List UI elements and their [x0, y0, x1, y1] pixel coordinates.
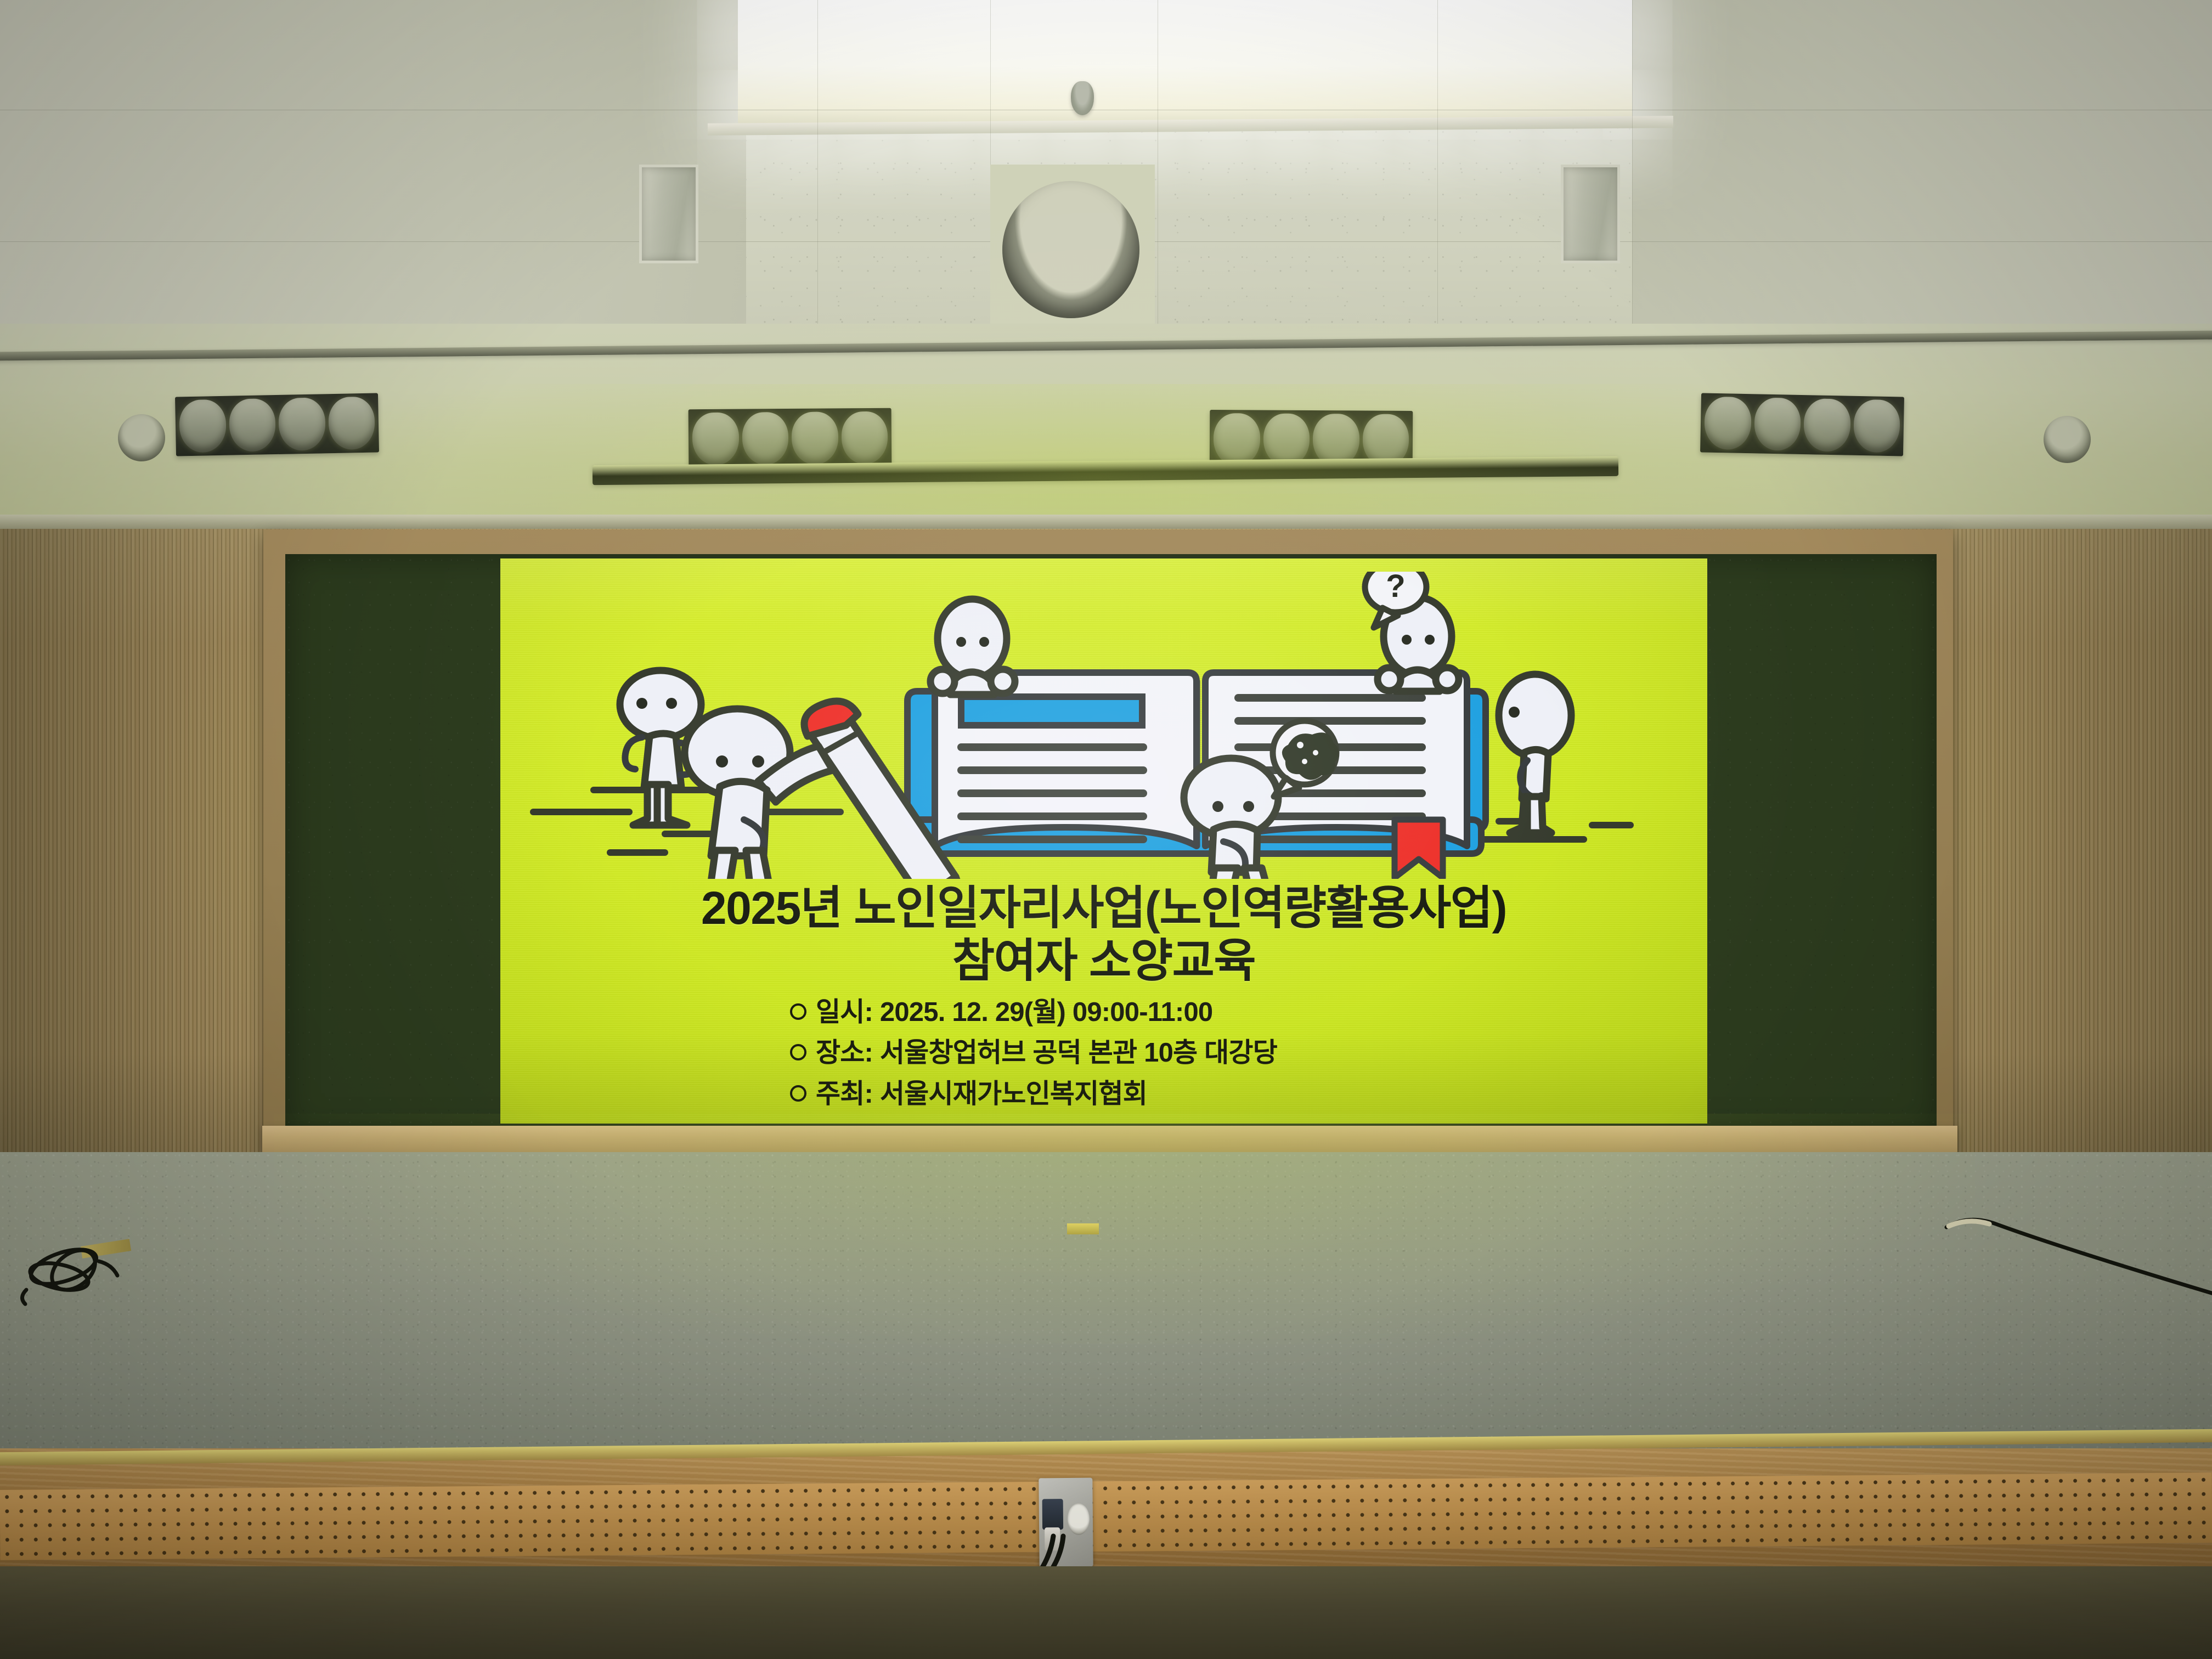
slide-bullet-text: 장소: 서울창업허브 공덕 본관 10층 대강당	[816, 1032, 1277, 1073]
spotlight-can	[841, 411, 888, 465]
projected-slide: .ol { stroke:#33382b; stroke-width:13; s…	[500, 558, 1707, 1124]
ground-dashes-left	[533, 790, 840, 853]
stage-floor-texture	[0, 1152, 2212, 1459]
wall-top-trim	[0, 515, 2212, 529]
spotlight-can	[792, 411, 838, 465]
slide-bullet-item-host: 주최: 서울시재가노인복지협회	[790, 1074, 1277, 1114]
sprinkler-head-icon	[1071, 81, 1094, 115]
spotlight-can	[742, 412, 788, 465]
slide-title: 2025년 노인일자리사업(노인역량활용사업) 참여자 소양교육	[500, 882, 1707, 988]
spotlight-can	[1214, 413, 1260, 466]
air-diffuser-right	[1561, 165, 1620, 263]
spotlight-bank-2	[689, 408, 892, 469]
bullet-ring-icon	[790, 1085, 806, 1102]
spotlight-can	[278, 397, 325, 451]
illustration-svg: .ol { stroke:#33382b; stroke-width:13; s…	[500, 572, 1707, 879]
slide-illustration: .ol { stroke:#33382b; stroke-width:13; s…	[500, 572, 1707, 879]
stage-floor	[0, 1152, 2212, 1459]
floor-cable-right-svg	[1942, 1199, 2212, 1336]
slide-bullet-text: 일시: 2025. 12. 29(월) 09:00-11:00	[816, 992, 1212, 1032]
floor-cable-right	[1942, 1199, 2212, 1336]
round-downlight-icon	[2044, 416, 2091, 463]
lecture-hall-scene: .ol { stroke:#33382b; stroke-width:13; s…	[0, 0, 2212, 1659]
stage-floor-marker	[1067, 1223, 1099, 1234]
air-diffuser-left	[639, 165, 698, 263]
slide-bullet-item-venue: 장소: 서울창업허브 공덕 본관 10층 대강당	[790, 1032, 1277, 1073]
spotlight-can	[229, 398, 276, 452]
recessed-downlight-icon	[990, 165, 1155, 329]
ceiling-soffit-left	[0, 0, 746, 340]
ceiling-soffit-right	[1632, 0, 2212, 340]
slide-title-line-2: 참여자 소양교육	[522, 935, 1685, 988]
slide-bullet-list: 일시: 2025. 12. 29(월) 09:00-11:00 장소: 서울창업…	[790, 992, 1277, 1114]
screen-bottom-rail	[262, 1126, 1957, 1154]
bullet-ring-icon	[790, 1003, 806, 1020]
spotlight-can	[692, 413, 739, 466]
spotlight-can	[1853, 399, 1900, 453]
slide-bullet-text: 주최: 서울시재가노인복지협회	[816, 1074, 1147, 1114]
bullet-ring-icon	[790, 1044, 806, 1060]
spotlight-can	[179, 399, 226, 453]
ceiling	[0, 0, 2212, 540]
spotlight-can	[1754, 397, 1801, 451]
slide-bullet-item-date: 일시: 2025. 12. 29(월) 09:00-11:00	[790, 992, 1277, 1032]
spotlight-can	[1803, 398, 1850, 452]
svg-text:?: ?	[1386, 572, 1405, 604]
spotlight-bank-4	[1700, 393, 1904, 456]
skylight-panel	[738, 0, 1632, 123]
figure-sitting-on-book-right: ?	[1365, 572, 1459, 691]
spotlight-bank-1	[175, 393, 379, 456]
figure-sitting-on-book-left	[930, 599, 1015, 695]
figure-standing-right	[1499, 674, 1571, 833]
orchestra-pit-shadow	[0, 1566, 2212, 1659]
round-downlight-icon	[118, 414, 165, 461]
spotlight-can	[328, 397, 375, 450]
spotlight-can	[1263, 414, 1310, 466]
ceiling-grid-line	[0, 110, 2212, 110]
plugged-connector	[1042, 1499, 1063, 1530]
slide-title-line-1: 2025년 노인일자리사업(노인역량활용사업)	[522, 882, 1685, 935]
coiled-cable	[16, 1237, 143, 1308]
spotlight-can	[1704, 397, 1751, 450]
coiled-cable-svg	[16, 1237, 143, 1308]
bookmark-icon	[1395, 820, 1443, 878]
